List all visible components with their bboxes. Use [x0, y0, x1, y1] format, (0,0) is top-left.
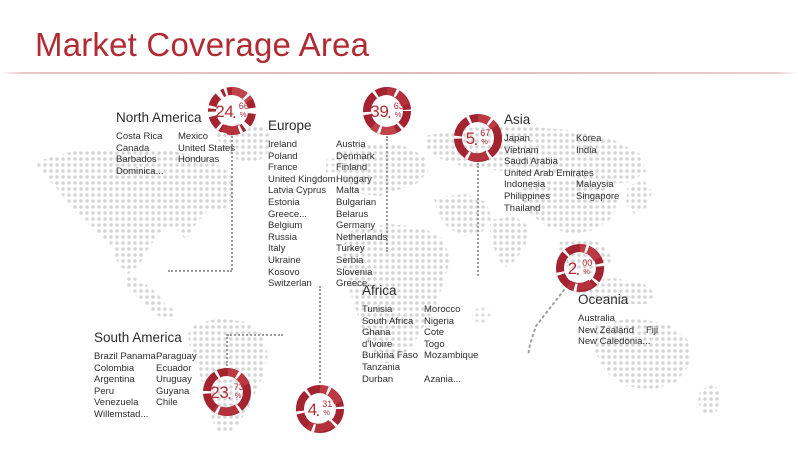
country-name: Burkina Faso [362, 350, 424, 362]
country-name: Russia [268, 232, 336, 244]
region-europe: Europe IrelandPolandFranceUnited Kingdom… [268, 118, 387, 290]
country-name [576, 203, 619, 215]
country-name: Latvia Cyprus [268, 185, 336, 197]
country-name: Saudi Arabia [504, 156, 576, 168]
page-title: Market Coverage Area [35, 26, 369, 64]
country-name: South Africa [362, 316, 424, 328]
country-name: Mozambique [424, 350, 478, 362]
region-countries-col1-africa: TunisiaSouth AfricaGhanad'IvoireBurkina … [362, 304, 424, 385]
country-name: Singapore [576, 191, 619, 203]
country-name [576, 156, 619, 168]
country-name [646, 336, 658, 348]
country-name: Hungary [336, 174, 387, 186]
connector-south-america [226, 334, 228, 366]
country-name: Canada [116, 143, 178, 155]
country-name: Thailand [504, 203, 576, 215]
country-name: Slovenia [336, 267, 387, 279]
country-name: United States [178, 143, 235, 155]
region-countries-col2-south-america: ParaguayEcuadorUruguayGuyanaChile [156, 351, 197, 421]
region-countries-col1-south-america: Brazil PanamaColombiaArgentinaPeruVenezu… [94, 351, 156, 421]
country-name: Italy [268, 243, 336, 255]
country-name: Australia [578, 313, 646, 325]
country-name: Barbados [116, 154, 178, 166]
region-countries-col2-asia: KoreaIndia MalaysiaSingapore [576, 133, 619, 214]
region-countries-col2-oceania: Fiji [646, 313, 658, 348]
country-name: Bulgarian [336, 197, 387, 209]
connector-asia [477, 163, 479, 276]
region-name-asia: Asia [504, 112, 619, 127]
country-name: Belarus [336, 209, 387, 221]
country-name [646, 313, 658, 325]
country-name: Uruguay [156, 374, 197, 386]
country-name: Fiji [646, 325, 658, 337]
country-name: Tanzania [362, 362, 424, 374]
country-name: Brazil Panama [94, 351, 156, 363]
donut-oceania[interactable]: 2 . 00 % [554, 242, 606, 294]
country-name: Ecuador [156, 363, 197, 375]
country-name: Serbia [336, 255, 387, 267]
country-name: Turkey [336, 243, 387, 255]
title-divider [0, 72, 798, 74]
country-name: Honduras [178, 154, 235, 166]
region-countries-col2-africa: MoroccoNigeriaCoteTogoMozambique Azania.… [424, 304, 478, 385]
region-countries-col2-europe: AustriaDenmarkFinlandHungaryMaltaBulgari… [336, 139, 387, 290]
country-name: Finland [336, 162, 387, 174]
region-name-north-america: North America [116, 110, 235, 125]
country-name: Costa Rica [116, 131, 178, 143]
country-name: Paraguay [156, 351, 197, 363]
country-name: Austria [336, 139, 387, 151]
country-name: Greece... [268, 209, 336, 221]
slide-canvas: Market Coverage Area [0, 0, 798, 450]
country-name: Kosovo [268, 267, 336, 279]
country-name: Azania... [424, 374, 478, 386]
country-name: Guyana [156, 386, 197, 398]
region-name-south-america: South America [94, 330, 197, 345]
region-countries-col1-oceania: AustraliaNew ZealandNew Caledonia... [578, 313, 646, 348]
region-countries-col1-asia: JapanVietnamSaudi ArabiaUnited Arab Emir… [504, 133, 576, 214]
region-oceania: Oceania AustraliaNew ZealandNew Caledoni… [578, 292, 658, 348]
country-name: United Arab Emirates [504, 168, 576, 180]
donut-asia[interactable]: 5 . 67 % [452, 112, 504, 164]
region-north-america: North America Costa RicaCanadaBarbadosDo… [116, 110, 235, 177]
country-name: Ghana [362, 327, 424, 339]
country-name: Switzerlan [268, 278, 336, 290]
connector-south-america-leg [227, 334, 283, 336]
country-name [576, 168, 619, 180]
region-countries-col2-north-america: MexicoUnited StatesHonduras [178, 131, 235, 177]
country-name: Belgium [268, 220, 336, 232]
country-name: Argentina [94, 374, 156, 386]
donut-south-america[interactable]: 23 . 73 % [201, 366, 253, 418]
region-countries-col1-north-america: Costa RicaCanadaBarbadosDominica... [116, 131, 178, 177]
connector-north-america-leg [168, 270, 232, 272]
region-countries-col1-europe: IrelandPolandFranceUnited KingdomLatvia … [268, 139, 336, 290]
country-name: Malta [336, 185, 387, 197]
country-name: Denmark [336, 151, 387, 163]
country-name: United Kingdom [268, 174, 336, 186]
country-name: d'Ivoire [362, 339, 424, 351]
country-name: New Zealand [578, 325, 646, 337]
country-name: Morocco [424, 304, 478, 316]
country-name: Ireland [268, 139, 336, 151]
country-name: Germany [336, 220, 387, 232]
country-name: New Caledonia... [578, 336, 646, 348]
country-name: Dominica... [116, 166, 178, 178]
country-name: India [576, 145, 619, 157]
country-name: Korea [576, 133, 619, 145]
connector-oceania [520, 286, 568, 356]
country-name: Estonia [268, 197, 336, 209]
region-africa: Africa TunisiaSouth AfricaGhanad'IvoireB… [362, 283, 478, 385]
country-name [424, 362, 478, 374]
country-name: Peru [94, 386, 156, 398]
region-south-america: South America Brazil PanamaColombiaArgen… [94, 330, 197, 421]
country-name: Poland [268, 151, 336, 163]
country-name: Venezuela [94, 397, 156, 409]
country-name: Durban [362, 374, 424, 386]
country-name: Colombia [94, 363, 156, 375]
country-name: Cote [424, 327, 478, 339]
country-name: Nigeria [424, 316, 478, 328]
country-name: Japan [504, 133, 576, 145]
donut-africa[interactable]: 4 . 31 % [294, 383, 346, 435]
region-name-africa: Africa [362, 283, 478, 298]
country-name: Tunisia [362, 304, 424, 316]
country-name: Chile [156, 397, 197, 409]
country-name: Vietnam [504, 145, 576, 157]
country-name: Mexico [178, 131, 235, 143]
country-name: Malaysia [576, 179, 619, 191]
country-name: Philippines [504, 191, 576, 203]
region-name-europe: Europe [268, 118, 387, 133]
country-name: Netherlands [336, 232, 387, 244]
country-name: Indonesia [504, 179, 576, 191]
country-name: France [268, 162, 336, 174]
country-name: Togo [424, 339, 478, 351]
region-name-oceania: Oceania [578, 292, 658, 307]
country-name: Willemstad... [94, 409, 156, 421]
region-asia: Asia JapanVietnamSaudi ArabiaUnited Arab… [504, 112, 619, 214]
connector-africa [319, 286, 321, 383]
country-name: Ukraine [268, 255, 336, 267]
